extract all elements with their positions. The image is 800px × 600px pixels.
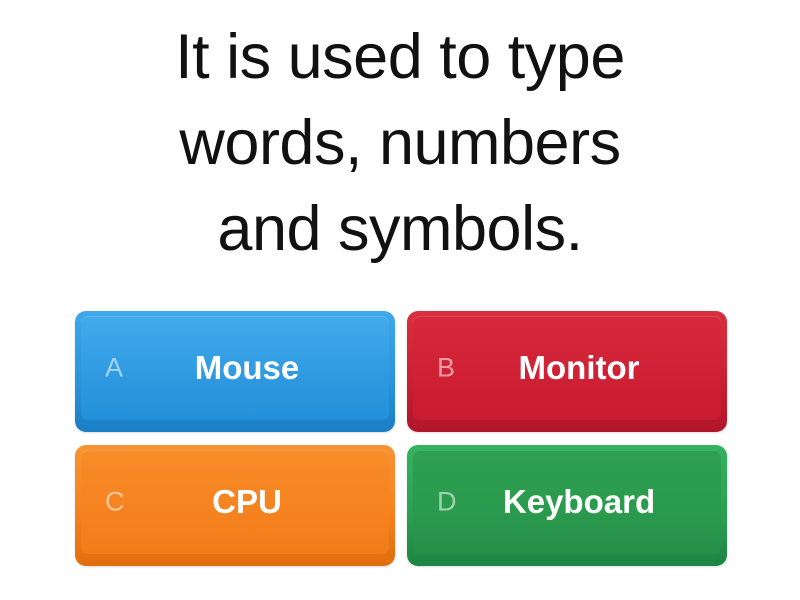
answer-option-a-face xyxy=(81,316,389,420)
quiz-screen: It is used to type words, numbers and sy… xyxy=(0,0,800,600)
answer-option-c-face xyxy=(81,450,389,554)
answer-options-grid: A Mouse B Monitor C CPU D Keyboard xyxy=(75,311,727,566)
question-area: It is used to type words, numbers and sy… xyxy=(0,14,800,284)
answer-option-c[interactable]: C CPU xyxy=(75,445,395,566)
answer-option-b-face xyxy=(413,316,721,420)
answer-option-a[interactable]: A Mouse xyxy=(75,311,395,432)
question-text: It is used to type words, numbers and sy… xyxy=(80,14,720,272)
answer-option-d-face xyxy=(413,450,721,554)
answer-option-b[interactable]: B Monitor xyxy=(407,311,727,432)
answer-option-d[interactable]: D Keyboard xyxy=(407,445,727,566)
